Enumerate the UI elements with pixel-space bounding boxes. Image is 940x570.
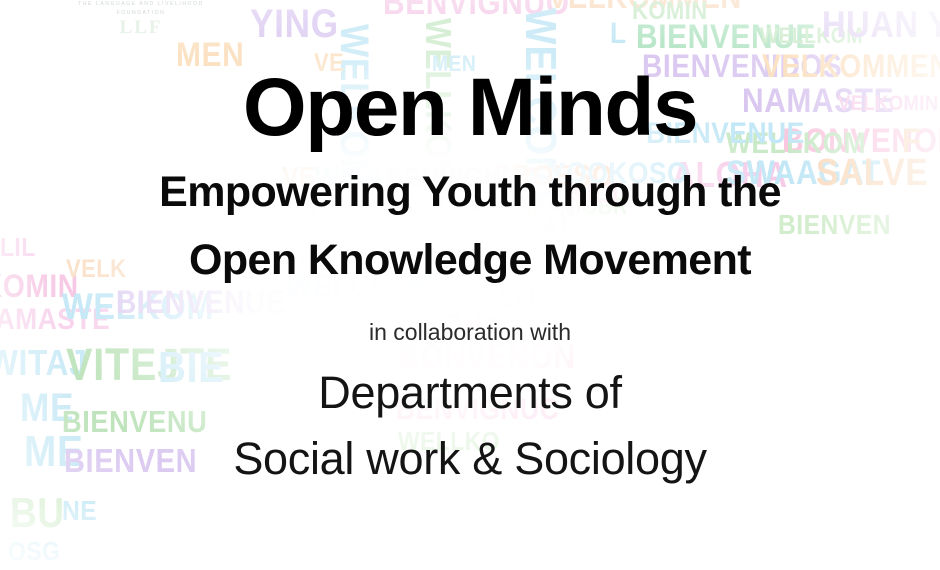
slide-title: Open Minds [243, 62, 697, 154]
presentation-slide: BENVIGNUOYINGMENWELKOMWELLKOMWELCOMEVELK… [0, 0, 940, 570]
department-line-1: Departments of [318, 360, 621, 426]
collaboration-label: in collaboration with [369, 318, 571, 346]
slide-subtitle-line-2: Open Knowledge Movement [189, 226, 751, 294]
slide-content: Open Minds Empowering Youth through the … [0, 0, 940, 570]
slide-subtitle-line-1: Empowering Youth through the [159, 158, 781, 226]
department-line-2: Social work & Sociology [233, 426, 706, 492]
